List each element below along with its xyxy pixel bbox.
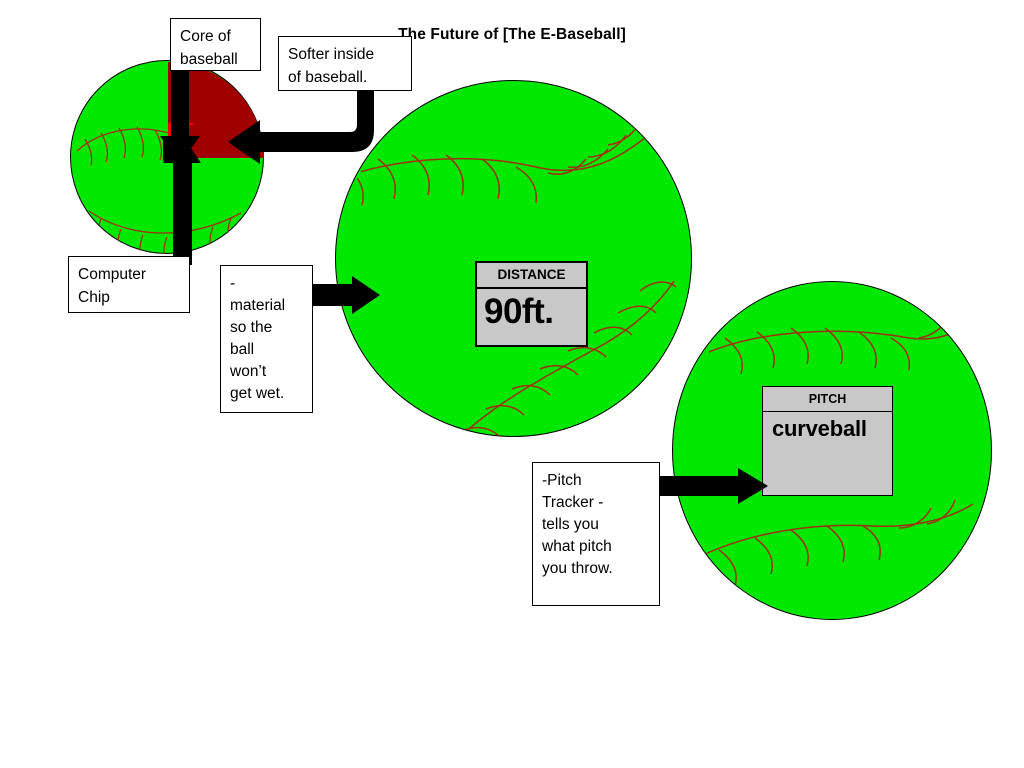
distance-display: DISTANCE 90ft. [475, 261, 588, 347]
page-title: The Future of [The E-Baseball] [0, 26, 1024, 44]
right-arrow-to-ball-two [310, 276, 380, 314]
distance-display-header: DISTANCE [477, 263, 586, 289]
callout-softer-inside: Softer inside of baseball. [278, 36, 412, 91]
callout-material-waterproof: - material so the ball won’t get wet. [220, 265, 313, 413]
distance-display-value: 90ft. [477, 289, 586, 335]
diagram-canvas: The Future of [The E-Baseball] [0, 0, 1024, 768]
elbow-arrow-to-core [222, 88, 382, 168]
pitch-display: PITCH curveball [762, 386, 893, 496]
pitch-display-value: curveball [763, 412, 892, 446]
pitch-display-header: PITCH [763, 387, 892, 412]
ball-two-stitching [336, 81, 693, 438]
baseball-with-distance-readout: DISTANCE 90ft. [335, 80, 692, 437]
baseball-with-pitch-readout: PITCH curveball [672, 281, 992, 620]
callout-core-of-baseball: Core of baseball [170, 18, 261, 71]
right-arrow-to-pitch-readout [650, 468, 768, 504]
callout-computer-chip: Computer Chip [68, 256, 190, 313]
callout-pitch-tracker: -Pitch Tracker - tells you what pitch yo… [532, 462, 660, 606]
up-arrow-to-chip [155, 135, 201, 265]
